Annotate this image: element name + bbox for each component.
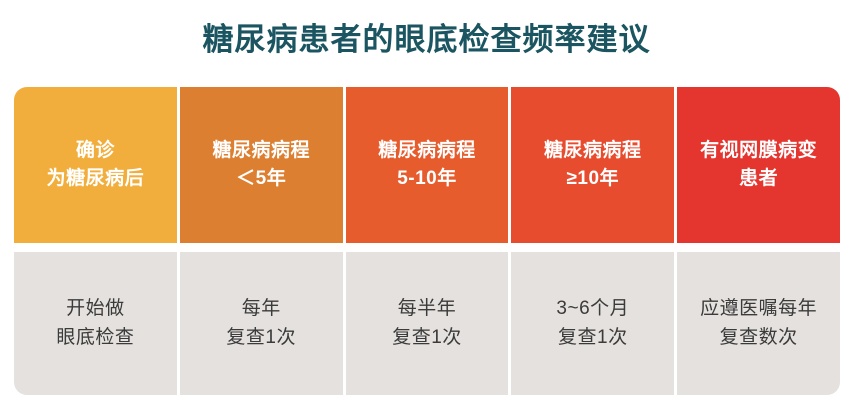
body-cell-4: 3~6个月 复查1次 bbox=[511, 252, 674, 395]
header-cell-3-line-1: 糖尿病病程 bbox=[378, 137, 476, 165]
table-body-row: 开始做 眼底检查 每年 复查1次 每半年 复查1次 3~6个月 复查1次 应遵医… bbox=[14, 252, 840, 395]
header-cell-4-line-2: ≥10年 bbox=[567, 165, 620, 193]
header-cell-5: 有视网膜病变 患者 bbox=[677, 87, 840, 243]
header-cell-4: 糖尿病病程 ≥10年 bbox=[511, 87, 674, 243]
body-cell-2: 每年 复查1次 bbox=[180, 252, 343, 395]
header-cell-1: 确诊 为糖尿病后 bbox=[14, 87, 177, 243]
title-container: 糖尿病患者的眼底检查频率建议 bbox=[0, 0, 853, 78]
body-cell-1: 开始做 眼底检查 bbox=[14, 252, 177, 395]
recommendation-table: 确诊 为糖尿病后 糖尿病病程 ＜5年 糖尿病病程 5-10年 糖尿病病程 ≥10… bbox=[14, 87, 840, 395]
header-cell-2: 糖尿病病程 ＜5年 bbox=[180, 87, 343, 243]
body-cell-2-line-1: 每年 bbox=[242, 295, 281, 324]
header-cell-5-line-1: 有视网膜病变 bbox=[700, 137, 817, 165]
header-cell-2-line-1: 糖尿病病程 bbox=[212, 137, 310, 165]
body-cell-5-line-2: 复查数次 bbox=[720, 324, 798, 353]
body-cell-3-line-1: 每半年 bbox=[398, 295, 457, 324]
header-cell-3: 糖尿病病程 5-10年 bbox=[346, 87, 509, 243]
infographic-root: 糖尿病患者的眼底检查频率建议 确诊 为糖尿病后 糖尿病病程 ＜5年 糖尿病病程 … bbox=[0, 0, 853, 409]
body-cell-5-line-1: 应遵医嘱每年 bbox=[700, 295, 817, 324]
header-cell-2-line-2: ＜5年 bbox=[236, 165, 286, 193]
header-cell-5-line-2: 患者 bbox=[739, 165, 778, 193]
header-cell-3-line-2: 5-10年 bbox=[397, 165, 457, 193]
header-cell-4-line-1: 糖尿病病程 bbox=[544, 137, 642, 165]
header-cell-1-line-2: 为糖尿病后 bbox=[47, 165, 145, 193]
page-title: 糖尿病患者的眼底检查频率建议 bbox=[203, 24, 651, 55]
body-cell-1-line-1: 开始做 bbox=[66, 295, 125, 324]
body-cell-2-line-2: 复查1次 bbox=[226, 324, 296, 353]
body-cell-3: 每半年 复查1次 bbox=[346, 252, 509, 395]
body-cell-4-line-1: 3~6个月 bbox=[556, 295, 629, 324]
body-cell-1-line-2: 眼底检查 bbox=[56, 324, 134, 353]
body-cell-3-line-2: 复查1次 bbox=[392, 324, 462, 353]
header-cell-1-line-1: 确诊 bbox=[76, 137, 115, 165]
body-cell-4-line-2: 复查1次 bbox=[558, 324, 628, 353]
body-cell-5: 应遵医嘱每年 复查数次 bbox=[677, 252, 840, 395]
table-header-row: 确诊 为糖尿病后 糖尿病病程 ＜5年 糖尿病病程 5-10年 糖尿病病程 ≥10… bbox=[14, 87, 840, 243]
